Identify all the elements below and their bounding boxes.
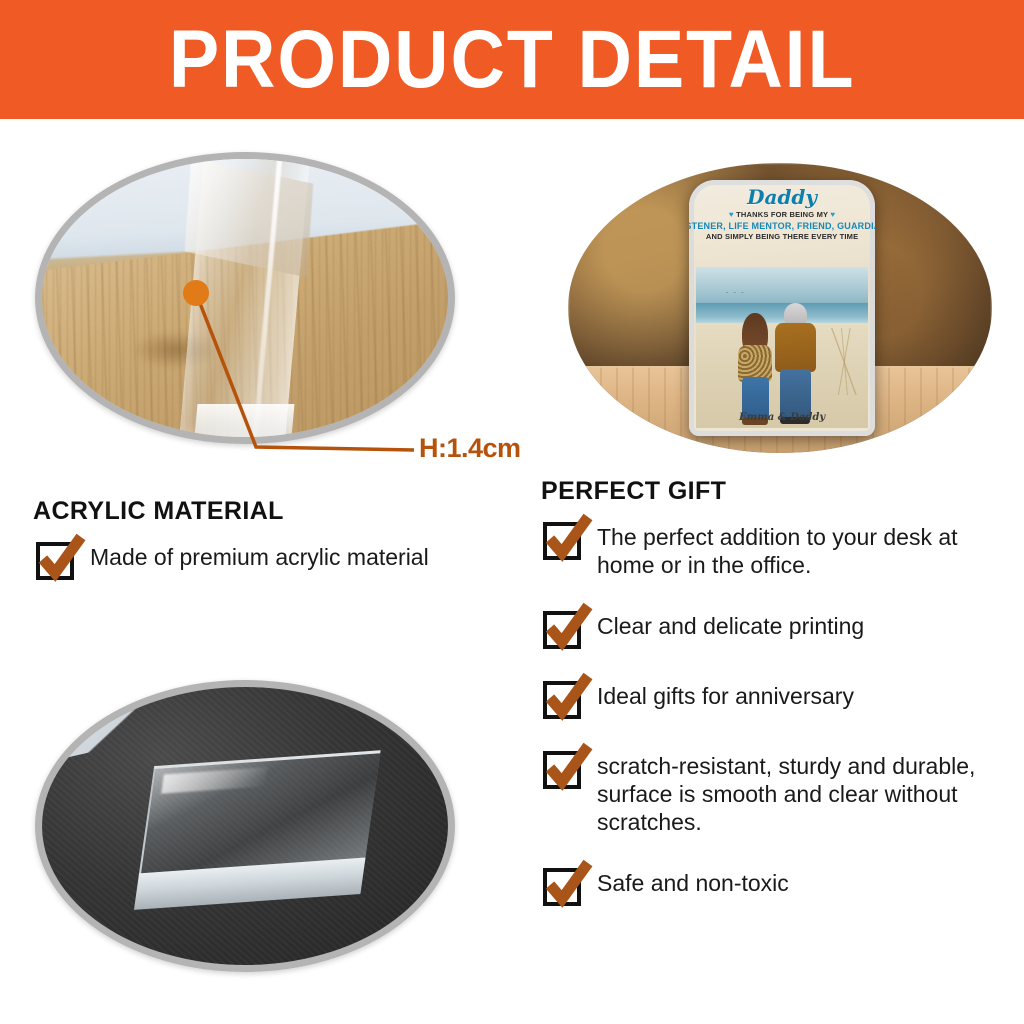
acrylic-slab bbox=[134, 750, 381, 907]
dad-jacket bbox=[775, 323, 816, 372]
acrylic-block-base bbox=[195, 404, 295, 437]
feature-list-acrylic-material: Made of premium acrylic material bbox=[36, 540, 516, 600]
list-item-label: scratch-resistant, sturdy and durable, s… bbox=[597, 749, 1013, 836]
plaque-line-3: AND SIMPLY BEING THERE EVERY TIME bbox=[706, 233, 858, 242]
check-icon bbox=[542, 513, 594, 565]
figure-daughter bbox=[737, 313, 772, 420]
checkbox-checked bbox=[543, 868, 581, 906]
list-item: The perfect addition to your desk at hom… bbox=[543, 520, 1013, 579]
checkbox-checked bbox=[543, 522, 581, 560]
checkbox-checked bbox=[543, 751, 581, 789]
list-item: scratch-resistant, sturdy and durable, s… bbox=[543, 749, 1013, 836]
feature-list-perfect-gift: The perfect addition to your desk at hom… bbox=[543, 520, 1013, 936]
header-bar: PRODUCT DETAIL bbox=[0, 0, 1024, 119]
list-item-label: Ideal gifts for anniversary bbox=[597, 679, 854, 710]
personalized-plaque: Daddy ♥ THANKS FOR BEING MY ♥ LISTENER, … bbox=[689, 180, 876, 435]
checkbox-checked bbox=[543, 681, 581, 719]
acrylic-edge-thickness-photo bbox=[35, 152, 455, 444]
list-item: Ideal gifts for anniversary bbox=[543, 679, 1013, 719]
check-icon bbox=[35, 533, 87, 585]
page-title: PRODUCT DETAIL bbox=[169, 19, 856, 101]
check-icon bbox=[542, 602, 594, 654]
checkbox-checked bbox=[36, 542, 74, 580]
slab-top-face bbox=[138, 750, 380, 876]
plaque-names: Emma & Daddy bbox=[689, 412, 876, 423]
acrylic-slab-photo bbox=[35, 680, 455, 972]
plaque-title: Daddy bbox=[747, 187, 817, 207]
edge-scene bbox=[42, 159, 448, 437]
heart-icon: ♥ bbox=[729, 210, 734, 219]
check-icon bbox=[542, 859, 594, 911]
check-icon bbox=[542, 672, 594, 724]
thickness-label: H:1.4cm bbox=[419, 433, 521, 464]
list-item-label: Safe and non-toxic bbox=[597, 866, 789, 897]
checkbox-checked bbox=[543, 611, 581, 649]
plaque-line-1: ♥ THANKS FOR BEING MY ♥ bbox=[729, 210, 836, 220]
birds-icon: ˇ ˇ ˇ bbox=[726, 293, 745, 299]
figure-dad bbox=[775, 303, 816, 420]
daughter-top bbox=[738, 345, 772, 381]
list-item: Made of premium acrylic material bbox=[36, 540, 516, 580]
list-item-label: Clear and delicate printing bbox=[597, 609, 864, 640]
finished-product-photo: Daddy ♥ THANKS FOR BEING MY ♥ LISTENER, … bbox=[568, 163, 992, 453]
heart-icon: ♥ bbox=[830, 210, 835, 219]
list-item: Safe and non-toxic bbox=[543, 866, 1013, 906]
list-item-label: The perfect addition to your desk at hom… bbox=[597, 520, 1013, 579]
plaque-line-2: LISTENER, LIFE MENTOR, FRIEND, GUARDIAN bbox=[689, 221, 876, 232]
section-heading-perfect-gift: PERFECT GIFT bbox=[541, 477, 726, 506]
section-heading-acrylic-material: ACRYLIC MATERIAL bbox=[33, 497, 284, 526]
plaque-line-1-text: THANKS FOR BEING MY bbox=[736, 210, 828, 219]
list-item-label: Made of premium acrylic material bbox=[90, 540, 429, 571]
plaque-dune-grass bbox=[831, 328, 861, 394]
check-icon bbox=[542, 742, 594, 794]
slab-gloss-highlight bbox=[161, 768, 267, 794]
list-item: Clear and delicate printing bbox=[543, 609, 1013, 649]
